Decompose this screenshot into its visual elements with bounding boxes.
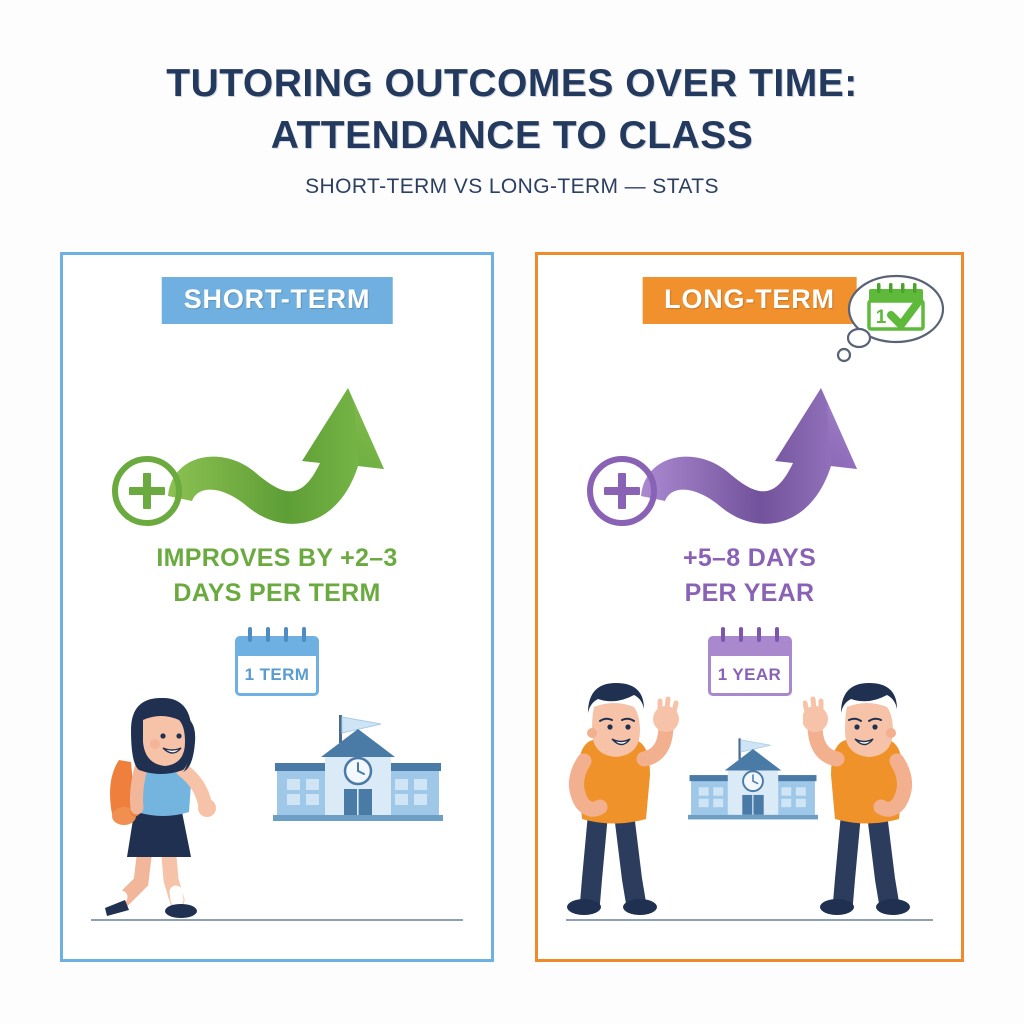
school-building-icon [688,731,818,839]
student-boy-right-illustration [803,679,933,929]
calendar-ring [302,627,306,642]
page-subtitle: SHORT-TERM vs LONG-TERM — STATS [0,175,1024,199]
calendar-check-icon: 1 [869,283,923,329]
student-girl-illustration [91,692,231,927]
calendar-ring [284,627,288,642]
scene-two-boys-at-school [538,669,961,959]
stat-short-term-line-1: IMPROVES BY +2–3 [63,541,491,576]
school-building-icon [273,711,443,841]
infographic-poster: TUTORING OUTCOMES OVER TIME: ATTENDANCE … [0,0,1024,1024]
badge-long-term: LONG-TERM [642,277,857,324]
stat-long-term: +5–8 DAYS PER YEAR [538,541,961,611]
poster-header: TUTORING OUTCOMES OVER TIME: ATTENDANCE … [0,58,1024,199]
page-title-line-1: TUTORING OUTCOMES OVER TIME: [0,58,1024,110]
stat-short-term-line-2: DAYS PER TERM [63,576,491,611]
growth-arrow-short-term [63,333,491,548]
thought-bubble-icon: 1 [833,263,953,383]
calendar-ring [248,627,252,642]
stat-long-term-line-1: +5–8 DAYS [538,541,961,576]
growth-arrow-icon [152,333,402,548]
calendar-ring [266,627,270,642]
calendar-ring [739,627,743,642]
plus-circle-icon [107,451,187,531]
panel-short-term: SHORT-TERM [60,252,494,962]
calendar-ring [757,627,761,642]
panel-long-term: LONG-TERM [535,252,964,962]
student-boy-left-illustration [550,679,680,929]
plus-circle-icon [582,451,662,531]
thought-bubble: 1 [833,263,953,388]
calendar-ring [775,627,779,642]
page-title-line-2: ATTENDANCE TO CLASS [0,110,1024,162]
calendar-ring [721,627,725,642]
scene-girl-walking-to-school [63,669,491,959]
thought-bubble-day-number: 1 [876,307,887,328]
stat-long-term-line-2: PER YEAR [538,576,961,611]
badge-short-term: SHORT-TERM [162,277,393,324]
stat-short-term: IMPROVES BY +2–3 DAYS PER TERM [63,541,491,611]
